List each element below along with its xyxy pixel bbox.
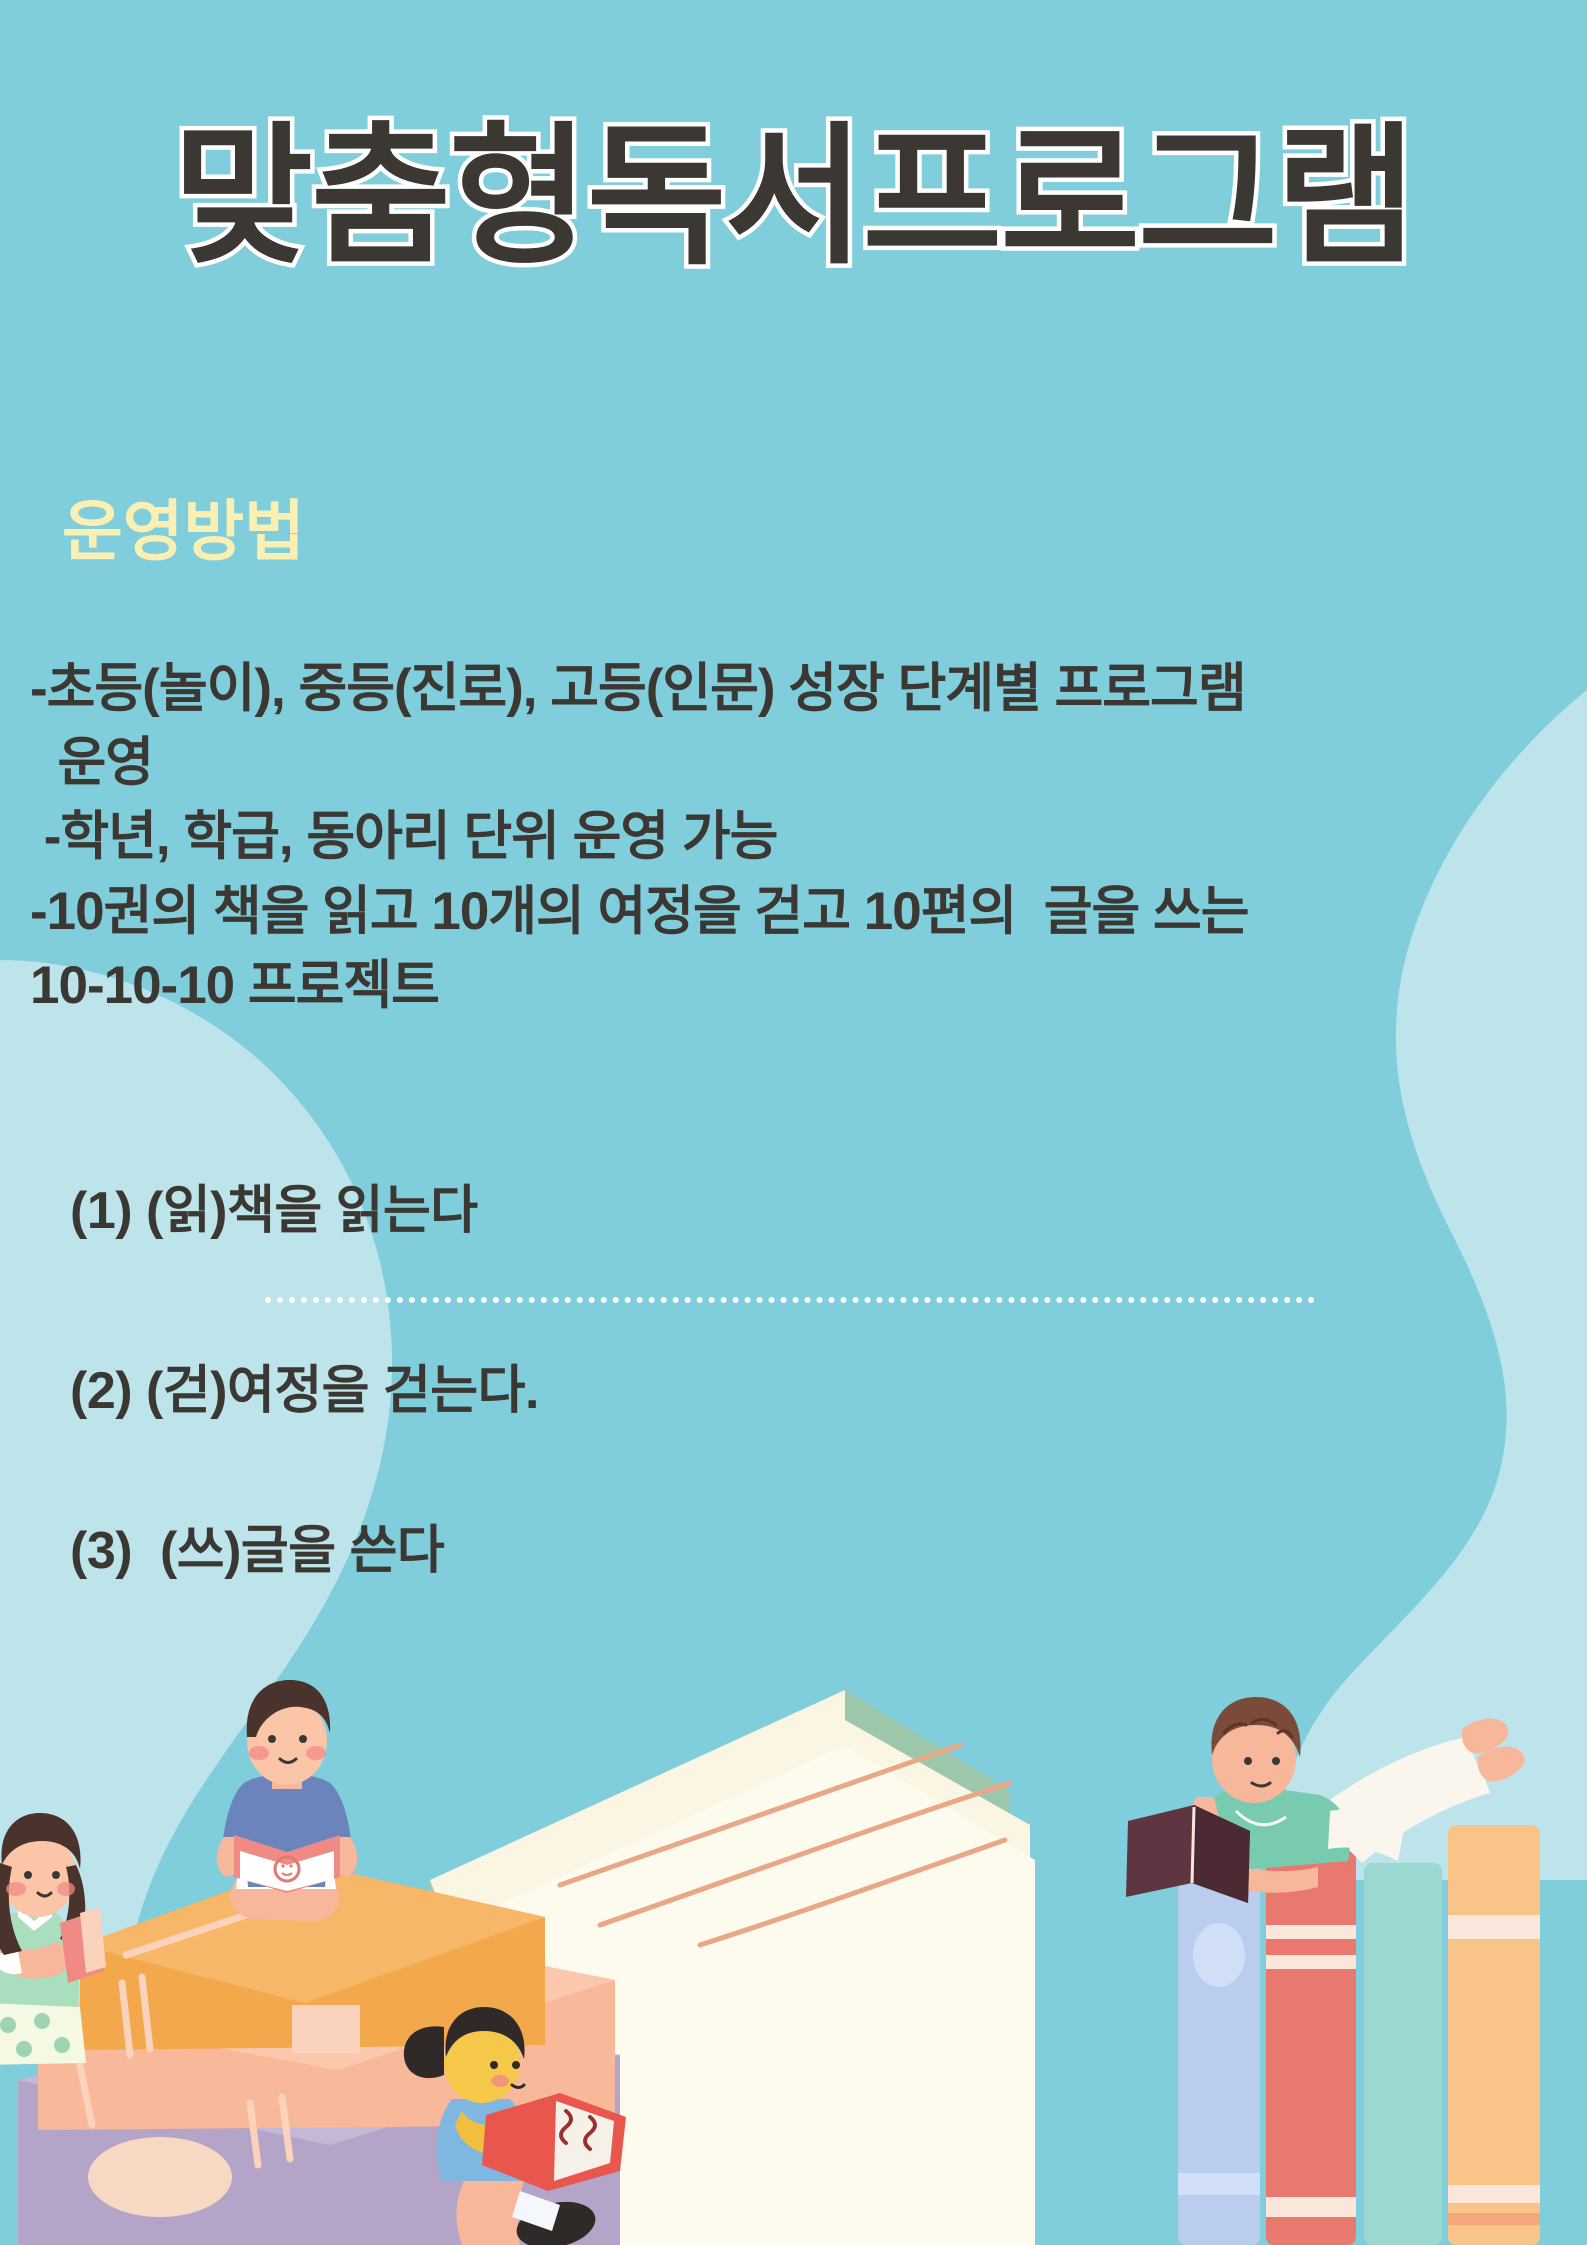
illustration-children-reading [0,1625,1587,2245]
book-label-patch [292,2005,360,2053]
step-item-1: (1) (읽)책을 읽는다 [70,1168,478,1243]
poster-canvas: 맞춤형독서프로그램 운영방법 -초등(놀이), 중등(진로), 고등(인문) 성… [0,0,1587,2245]
step-item-3: (3) (쓰)글을 쓴다 [70,1508,444,1583]
section-heading-operation-method: 운영방법 [62,478,305,574]
body-description: -초등(놀이), 중등(진로), 고등(인문) 성장 단계별 프로그램 운영 -… [30,652,1550,1023]
step-item-2: (2) (걷)여정을 걷는다. [70,1348,539,1423]
dotted-divider [265,1297,1315,1303]
page-title: 맞춤형독서프로그램 [0,118,1587,278]
